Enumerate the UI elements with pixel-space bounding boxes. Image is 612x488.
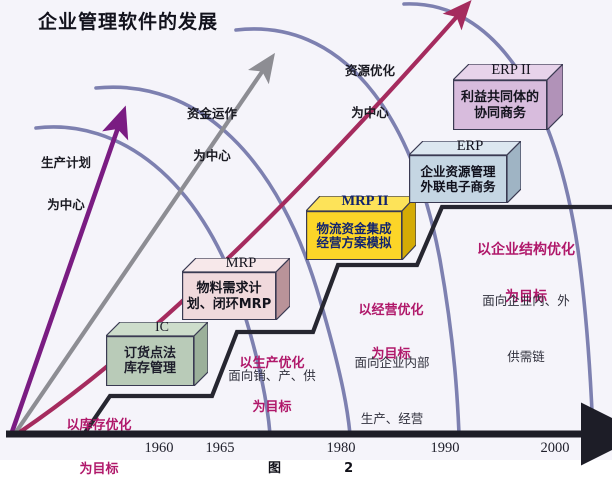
box-mrp[interactable]: MRP 物料需求计 划、闭环MRP — [182, 258, 290, 320]
box-mrp2-line2: 经营方案模拟 — [316, 236, 391, 251]
box-ic[interactable]: IC 订货点法 库存管理 — [106, 322, 208, 386]
step-scope-structure: 面向企业内、外 供需链 — [448, 254, 604, 404]
box-erp2-line2: 协同商务 — [474, 106, 526, 121]
scope-line2: 生产、经营 — [330, 410, 454, 429]
arrow-label-production-plan: 生产计划 为中心 — [14, 128, 118, 240]
box-ic-line2: 库存管理 — [124, 361, 176, 376]
box-erp-caption: ERP — [429, 138, 511, 154]
box-mrp2[interactable]: MRP II 物流资金集成 经营方案模拟 — [306, 196, 416, 260]
year-label-1980: 1980 — [311, 440, 371, 456]
goal-line2: 为目标 — [220, 401, 324, 416]
year-label-1990: 1990 — [415, 440, 475, 456]
box-erp2-line1: 利益共同体的 — [461, 90, 539, 105]
box-erp-line2: 外联电子商务 — [420, 180, 495, 195]
arrow-label-resource-optimization: 资源优化 为中心 — [318, 36, 422, 148]
scope-line2: 供需链 — [448, 348, 604, 367]
figure-root: 企业管理软件的发展 生产计划 为中心 资金运作 为中心 资源优化 为中心 IC … — [0, 0, 612, 488]
figure-caption: 图 2 — [268, 462, 362, 477]
arrow-label-line1: 资源优化 — [318, 64, 422, 78]
box-erp[interactable]: ERP 企业资源管理 外联电子商务 — [409, 141, 521, 203]
figure-title: 企业管理软件的发展 — [38, 12, 218, 33]
box-mrp-line2: 划、闭环MRP — [187, 297, 271, 312]
box-mrp2-line1: 物流资金集成 — [316, 222, 391, 237]
box-erp-line1: 企业资源管理 — [420, 165, 495, 180]
box-mrp-caption: MRP — [200, 255, 282, 271]
scope-line1: 面向企业内部 — [330, 354, 454, 373]
year-label-1960: 1960 — [129, 440, 189, 456]
arrow-label-line1: 资金运作 — [160, 107, 264, 121]
box-ic-caption: IC — [122, 320, 202, 335]
arrow-label-line2: 为中心 — [160, 149, 264, 163]
scope-line1: 面向企业内、外 — [448, 292, 604, 311]
box-mrp2-caption: MRP II — [324, 193, 406, 210]
year-label-2000: 2000 — [525, 440, 585, 456]
step-scope-production: 面向销、产、供 — [206, 367, 338, 386]
arrow-label-capital-operation: 资金运作 为中心 — [160, 79, 264, 191]
arrow-label-line2: 为中心 — [14, 198, 118, 212]
goal-line2: 为目标 — [47, 463, 151, 478]
arrow-label-line1: 生产计划 — [14, 156, 118, 170]
box-erp2[interactable]: ERP II 利益共同体的 协同商务 — [453, 64, 563, 130]
step-goal-production: 以生产优化 为目标 — [220, 328, 324, 444]
year-label-1965: 1965 — [190, 440, 250, 456]
arrow-label-line2: 为中心 — [318, 106, 422, 120]
box-erp2-caption: ERP II — [471, 62, 551, 79]
step-goal-inventory: 以库存优化 为目标 — [47, 390, 151, 488]
box-ic-line1: 订货点法 — [124, 346, 176, 361]
goal-line1: 以库存优化 — [47, 419, 151, 434]
box-mrp-line1: 物料需求计 — [196, 281, 261, 296]
